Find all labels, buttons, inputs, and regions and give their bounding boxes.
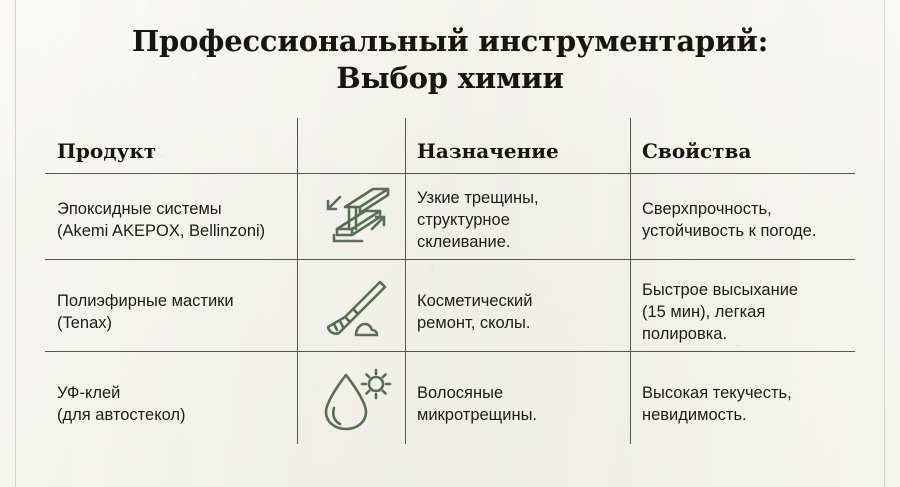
column-header-purpose: Назначение	[417, 139, 559, 163]
page-title-line-1: Профессиональный инструментарий:	[0, 23, 900, 60]
table-column-divider-3	[630, 118, 631, 444]
cell-purpose: Узкие трещины, структурное склеивание.	[417, 187, 625, 253]
table-column-divider-2	[405, 118, 406, 444]
cell-purpose: Косметический ремонт, сколы.	[417, 290, 625, 334]
table-header-rule	[45, 173, 855, 174]
table-column-divider-1	[297, 118, 298, 444]
cell-product: УФ-клей (для автостекол)	[57, 382, 295, 426]
steel-beam-icon	[307, 178, 405, 256]
cell-product: Полиэфирные мастики (Tenax)	[57, 290, 295, 334]
uv-droplet-icon	[307, 362, 405, 440]
cell-properties: Сверхпрочность, устойчивость к погоде.	[642, 198, 854, 242]
cell-product: Эпоксидные системы (Akemi AKEPOX, Bellin…	[57, 198, 295, 242]
infographic-canvas: Профессиональный инструментарий: Выбор х…	[0, 0, 900, 487]
chemistry-comparison-table: Продукт Назначение Свойства Эпоксидные с…	[45, 118, 855, 444]
cell-properties: Высокая текучесть, невидимость.	[642, 382, 854, 426]
cell-purpose: Волосяные микротрещины.	[417, 382, 625, 426]
paintbrush-icon	[307, 270, 405, 348]
page-title-line-2: Выбор химии	[0, 60, 900, 97]
table-row-rule-1	[45, 259, 855, 260]
column-header-product: Продукт	[57, 139, 156, 163]
table-row-rule-2	[45, 351, 855, 352]
page-title: Профессиональный инструментарий: Выбор х…	[0, 23, 900, 97]
cell-properties: Быстрое высыхание (15 мин), легкая полир…	[642, 279, 854, 345]
column-header-properties: Свойства	[642, 139, 751, 163]
